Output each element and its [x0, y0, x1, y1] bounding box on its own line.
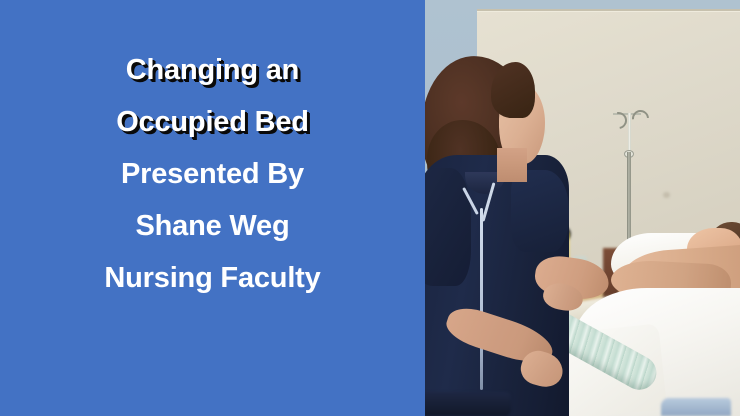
title-panel: Changing an Occupied Bed Presented By Sh…: [0, 0, 425, 416]
title-line-2: Occupied Bed: [0, 96, 425, 148]
blue-linen: [661, 398, 731, 416]
nurse-hair-front: [491, 62, 535, 118]
title-line-3: Presented By: [0, 148, 425, 200]
scene-photograph: [425, 0, 740, 416]
presenter-name: Shane Weg: [0, 200, 425, 252]
title-line-1: Changing an: [0, 44, 425, 96]
slide-frame: Changing an Occupied Bed Presented By Sh…: [0, 0, 740, 416]
wall-mark: [663, 192, 670, 198]
title-text-block: Changing an Occupied Bed Presented By Sh…: [0, 44, 425, 304]
uniform-piping-vertical: [480, 208, 483, 390]
bed-frame: [425, 392, 511, 416]
presenter-affiliation: Nursing Faculty: [0, 252, 425, 304]
nurse-neck: [497, 148, 527, 182]
nurse-left-shoulder: [425, 168, 471, 286]
nurse-right-sleeve: [511, 170, 569, 252]
